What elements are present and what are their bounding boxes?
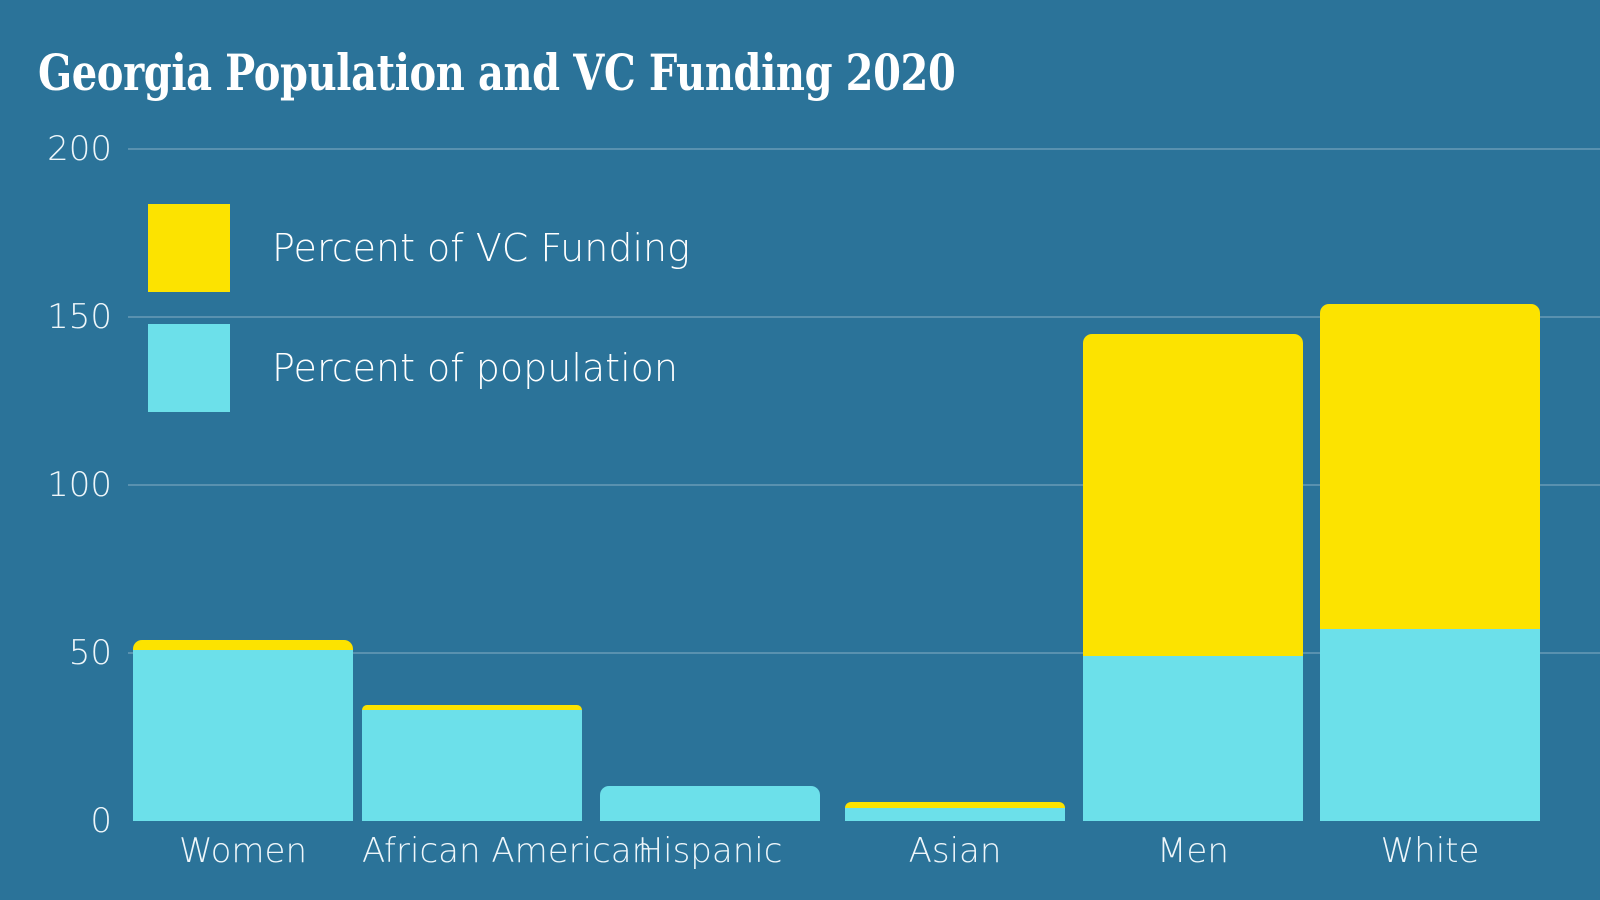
legend-label-population: Percent of population (272, 348, 678, 388)
x-tick-label-african-american: African American (362, 823, 582, 879)
legend-swatch-population (148, 324, 230, 412)
x-tick-label-men: Men (1083, 823, 1303, 879)
bar-segment-vc-funding[interactable] (133, 640, 353, 650)
x-tick-label-women: Women (133, 823, 353, 879)
bar-asian[interactable] (845, 802, 1065, 821)
x-tick-label-asian: Asian (845, 823, 1065, 879)
bar-segment-population[interactable] (600, 786, 820, 821)
legend-item-vc-funding[interactable]: Percent of VC Funding (148, 188, 690, 308)
legend-swatch-vc-funding (148, 204, 230, 292)
bar-segment-population[interactable] (133, 650, 353, 821)
bar-african-american[interactable] (362, 705, 582, 821)
bar-segment-population[interactable] (362, 710, 582, 821)
bar-segment-population[interactable] (845, 808, 1065, 821)
bar-men[interactable] (1083, 334, 1303, 821)
y-tick-label-50: 50 (0, 636, 112, 670)
bar-women[interactable] (133, 640, 353, 821)
legend-item-population[interactable]: Percent of population (148, 308, 690, 428)
bar-segment-population[interactable] (1083, 656, 1303, 821)
gridline-200 (128, 148, 1600, 150)
y-tick-label-100: 100 (0, 468, 112, 502)
bar-segment-vc-funding[interactable] (845, 802, 1065, 808)
x-tick-label-white: White (1320, 823, 1540, 879)
y-tick-label-0: 0 (0, 804, 112, 838)
chart-root: Georgia Population and VC Funding 2020 0… (0, 0, 1600, 900)
y-tick-label-150: 150 (0, 300, 112, 334)
bar-segment-vc-funding[interactable] (362, 705, 582, 710)
y-tick-label-200: 200 (0, 132, 112, 166)
bar-hispanic[interactable] (600, 786, 820, 821)
plot-area: 050100150200 WomenAfrican AmericanHispan… (0, 0, 1600, 900)
chart-legend: Percent of VC FundingPercent of populati… (148, 188, 690, 428)
x-tick-label-hispanic: Hispanic (600, 823, 820, 879)
bar-segment-vc-funding[interactable] (1320, 304, 1540, 630)
bar-segment-population[interactable] (1320, 629, 1540, 821)
legend-label-vc-funding: Percent of VC Funding (272, 228, 690, 268)
bar-segment-vc-funding[interactable] (1083, 334, 1303, 657)
bar-white[interactable] (1320, 304, 1540, 821)
